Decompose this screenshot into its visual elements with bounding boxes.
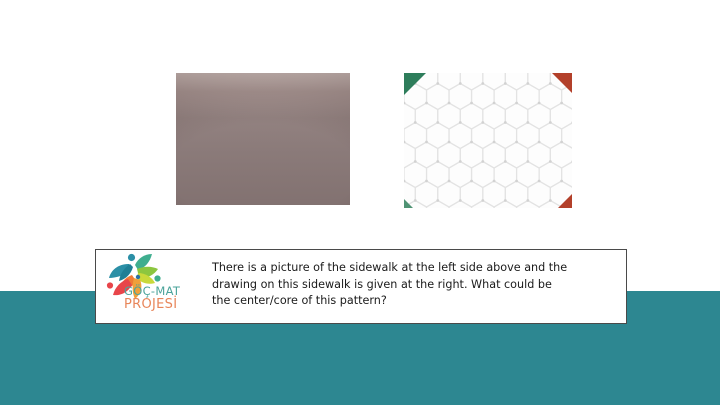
grid-node bbox=[481, 82, 484, 85]
grid-node bbox=[538, 141, 541, 144]
grid-node bbox=[448, 102, 451, 105]
grid-node bbox=[414, 121, 417, 124]
grid-node bbox=[481, 160, 484, 163]
grid-node bbox=[470, 180, 473, 183]
caption-text: There is a picture of the sidewalk at th… bbox=[204, 250, 626, 323]
grid-node bbox=[526, 199, 529, 202]
grid-node bbox=[526, 82, 529, 85]
grid-node bbox=[526, 121, 529, 124]
grid-node bbox=[504, 199, 507, 202]
caption-line-1: There is a picture of the sidewalk at th… bbox=[212, 260, 612, 277]
grid-node bbox=[504, 121, 507, 124]
hexagon-cell bbox=[460, 73, 483, 90]
hexagon-cell bbox=[438, 73, 461, 90]
grid-node bbox=[504, 160, 507, 163]
logo-line-1: GÖÇ-MAT bbox=[124, 286, 202, 298]
grid-node bbox=[493, 141, 496, 144]
grid-node bbox=[526, 160, 529, 163]
grid-node bbox=[560, 102, 563, 105]
corner-marker-top-left-icon bbox=[404, 73, 426, 95]
hexagon-cell bbox=[505, 73, 528, 90]
sidewalk-photo bbox=[176, 73, 350, 205]
corner-marker-bottom-left-icon bbox=[404, 199, 413, 208]
grid-node bbox=[448, 141, 451, 144]
rhombille-line-drawing bbox=[404, 73, 572, 208]
grid-node bbox=[549, 160, 552, 163]
grid-node bbox=[414, 160, 417, 163]
caption-box: GÖÇ-MAT PROJESİ There is a picture of th… bbox=[95, 249, 627, 324]
hexagon-cell bbox=[483, 73, 506, 90]
goc-mat-projesi-logo: GÖÇ-MAT PROJESİ bbox=[96, 250, 204, 323]
grid-node bbox=[459, 160, 462, 163]
slide-canvas: GÖÇ-MAT PROJESİ There is a picture of th… bbox=[0, 0, 720, 405]
corner-marker-bottom-right-icon bbox=[558, 194, 572, 208]
caption-line-3: the center/core of this pattern? bbox=[212, 293, 612, 310]
grid-node bbox=[425, 141, 428, 144]
grid-node bbox=[504, 82, 507, 85]
grid-node bbox=[538, 102, 541, 105]
grid-node bbox=[493, 180, 496, 183]
grid-node bbox=[459, 121, 462, 124]
grid-node bbox=[470, 141, 473, 144]
grid-node bbox=[470, 102, 473, 105]
grid-node bbox=[538, 180, 541, 183]
grid-node bbox=[560, 141, 563, 144]
grid-node bbox=[425, 180, 428, 183]
rhombille-grid-svg bbox=[404, 73, 572, 208]
grid-node bbox=[549, 199, 552, 202]
photo-haze-overlay bbox=[176, 73, 350, 205]
grid-node bbox=[560, 180, 563, 183]
grid-node bbox=[436, 199, 439, 202]
grid-node bbox=[436, 82, 439, 85]
grid-node bbox=[448, 180, 451, 183]
logo-line-2: PROJESİ bbox=[124, 298, 202, 311]
logo-wordmark: GÖÇ-MAT PROJESİ bbox=[124, 286, 202, 311]
grid-node bbox=[481, 121, 484, 124]
grid-node bbox=[436, 121, 439, 124]
grid-node bbox=[549, 121, 552, 124]
caption-line-2: drawing on this sidewalk is given at the… bbox=[212, 277, 612, 294]
grid-node bbox=[481, 199, 484, 202]
grid-node bbox=[459, 199, 462, 202]
photo-vignette-overlay bbox=[176, 73, 350, 205]
grid-node bbox=[459, 82, 462, 85]
grid-node bbox=[425, 102, 428, 105]
grid-node bbox=[515, 141, 518, 144]
corner-marker-top-right-icon bbox=[552, 73, 572, 93]
grid-node bbox=[436, 160, 439, 163]
hexagon-cell bbox=[528, 73, 551, 90]
grid-node bbox=[493, 102, 496, 105]
grid-node bbox=[414, 199, 417, 202]
grid-node bbox=[515, 102, 518, 105]
grid-node bbox=[515, 180, 518, 183]
